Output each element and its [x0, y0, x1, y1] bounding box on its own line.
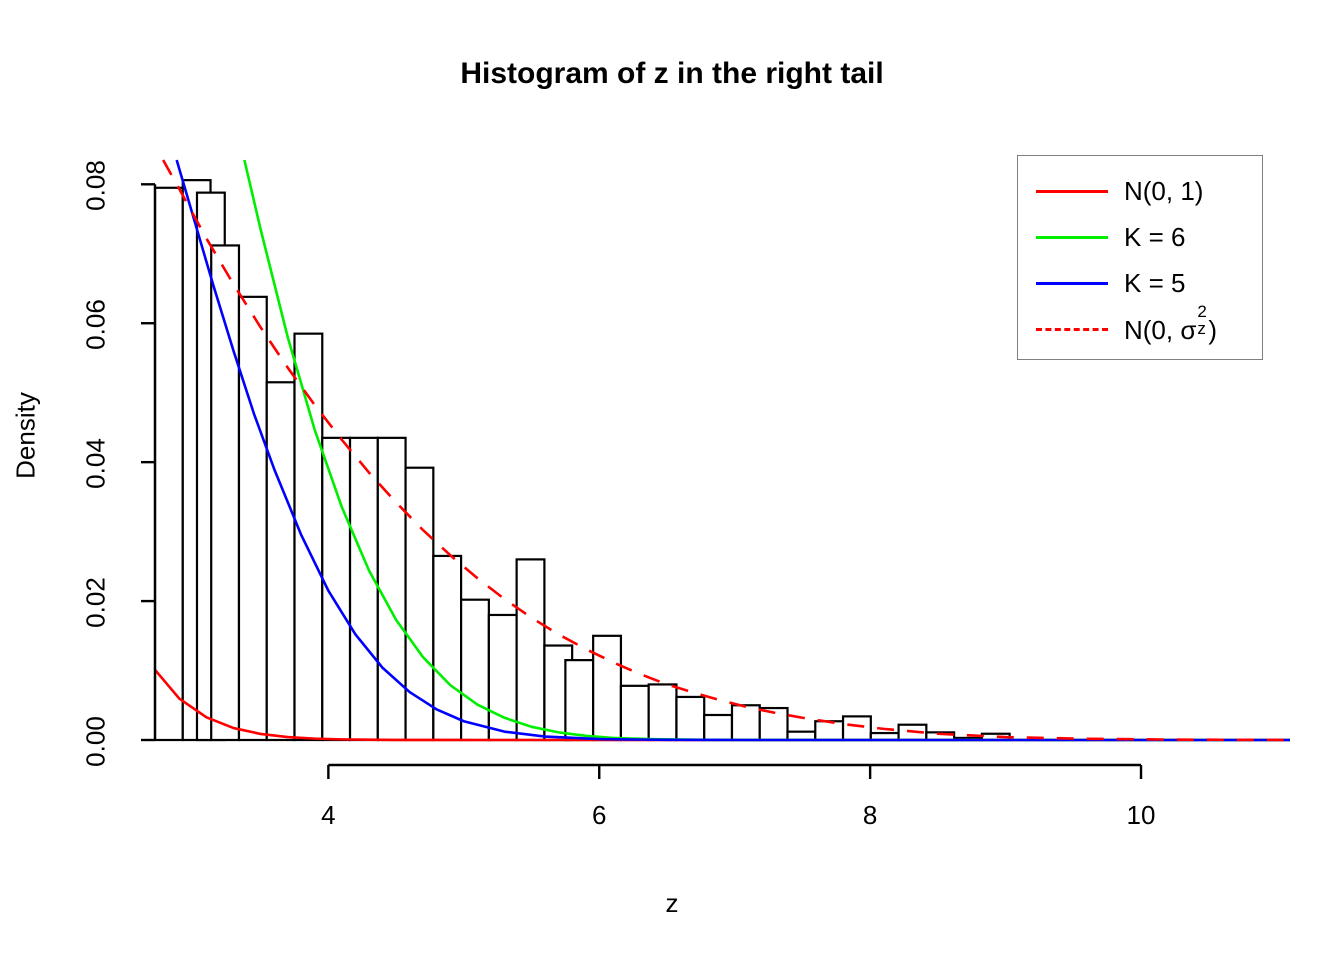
x-axis-tick-label: 10 — [1101, 800, 1181, 831]
legend-item: N(0, σ2z) — [1018, 306, 1264, 352]
table-row — [461, 600, 489, 740]
y-axis-tick-label: 0.08 — [81, 146, 112, 226]
legend-swatch-icon — [1036, 181, 1108, 201]
y-axis-tick-label: 0.00 — [81, 702, 112, 782]
table-row — [815, 721, 843, 740]
table-row — [155, 188, 183, 740]
table-row — [704, 715, 732, 740]
legend-item: K = 6 — [1018, 214, 1264, 260]
table-row — [239, 297, 267, 740]
histogram-bars — [155, 180, 1010, 740]
table-row — [593, 636, 621, 740]
legend: N(0, 1)K = 6K = 5N(0, σ2z) — [1017, 155, 1263, 360]
y-axis-tick-label: 0.02 — [81, 563, 112, 643]
table-row — [433, 556, 461, 740]
table-row — [517, 559, 545, 740]
legend-item-label: N(0, 1) — [1124, 176, 1203, 207]
legend-swatch-icon — [1036, 273, 1108, 293]
legend-item: K = 5 — [1018, 260, 1264, 306]
y-axis-tick-label: 0.06 — [81, 285, 112, 365]
table-row — [350, 438, 378, 740]
table-row — [565, 660, 593, 740]
table-row — [378, 438, 406, 740]
table-row — [267, 382, 295, 740]
legend-swatch-icon — [1036, 319, 1108, 339]
x-axis-tick-label: 6 — [559, 800, 639, 831]
table-row — [843, 716, 871, 740]
x-axis-tick-label: 8 — [830, 800, 910, 831]
y-axis-tick-label: 0.04 — [81, 424, 112, 504]
table-row — [621, 686, 649, 740]
legend-swatch-icon — [1036, 227, 1108, 247]
legend-item-label: N(0, σ2z) — [1124, 313, 1217, 346]
table-row — [732, 705, 760, 740]
table-row — [676, 697, 704, 740]
x-axis-tick-label: 4 — [288, 800, 368, 831]
legend-item-label: K = 6 — [1124, 222, 1185, 253]
histogram-figure: Histogram of z in the right tail Density… — [0, 0, 1344, 960]
legend-item: N(0, 1) — [1018, 168, 1264, 214]
legend-item-label: K = 5 — [1124, 268, 1185, 299]
table-row — [649, 684, 677, 740]
